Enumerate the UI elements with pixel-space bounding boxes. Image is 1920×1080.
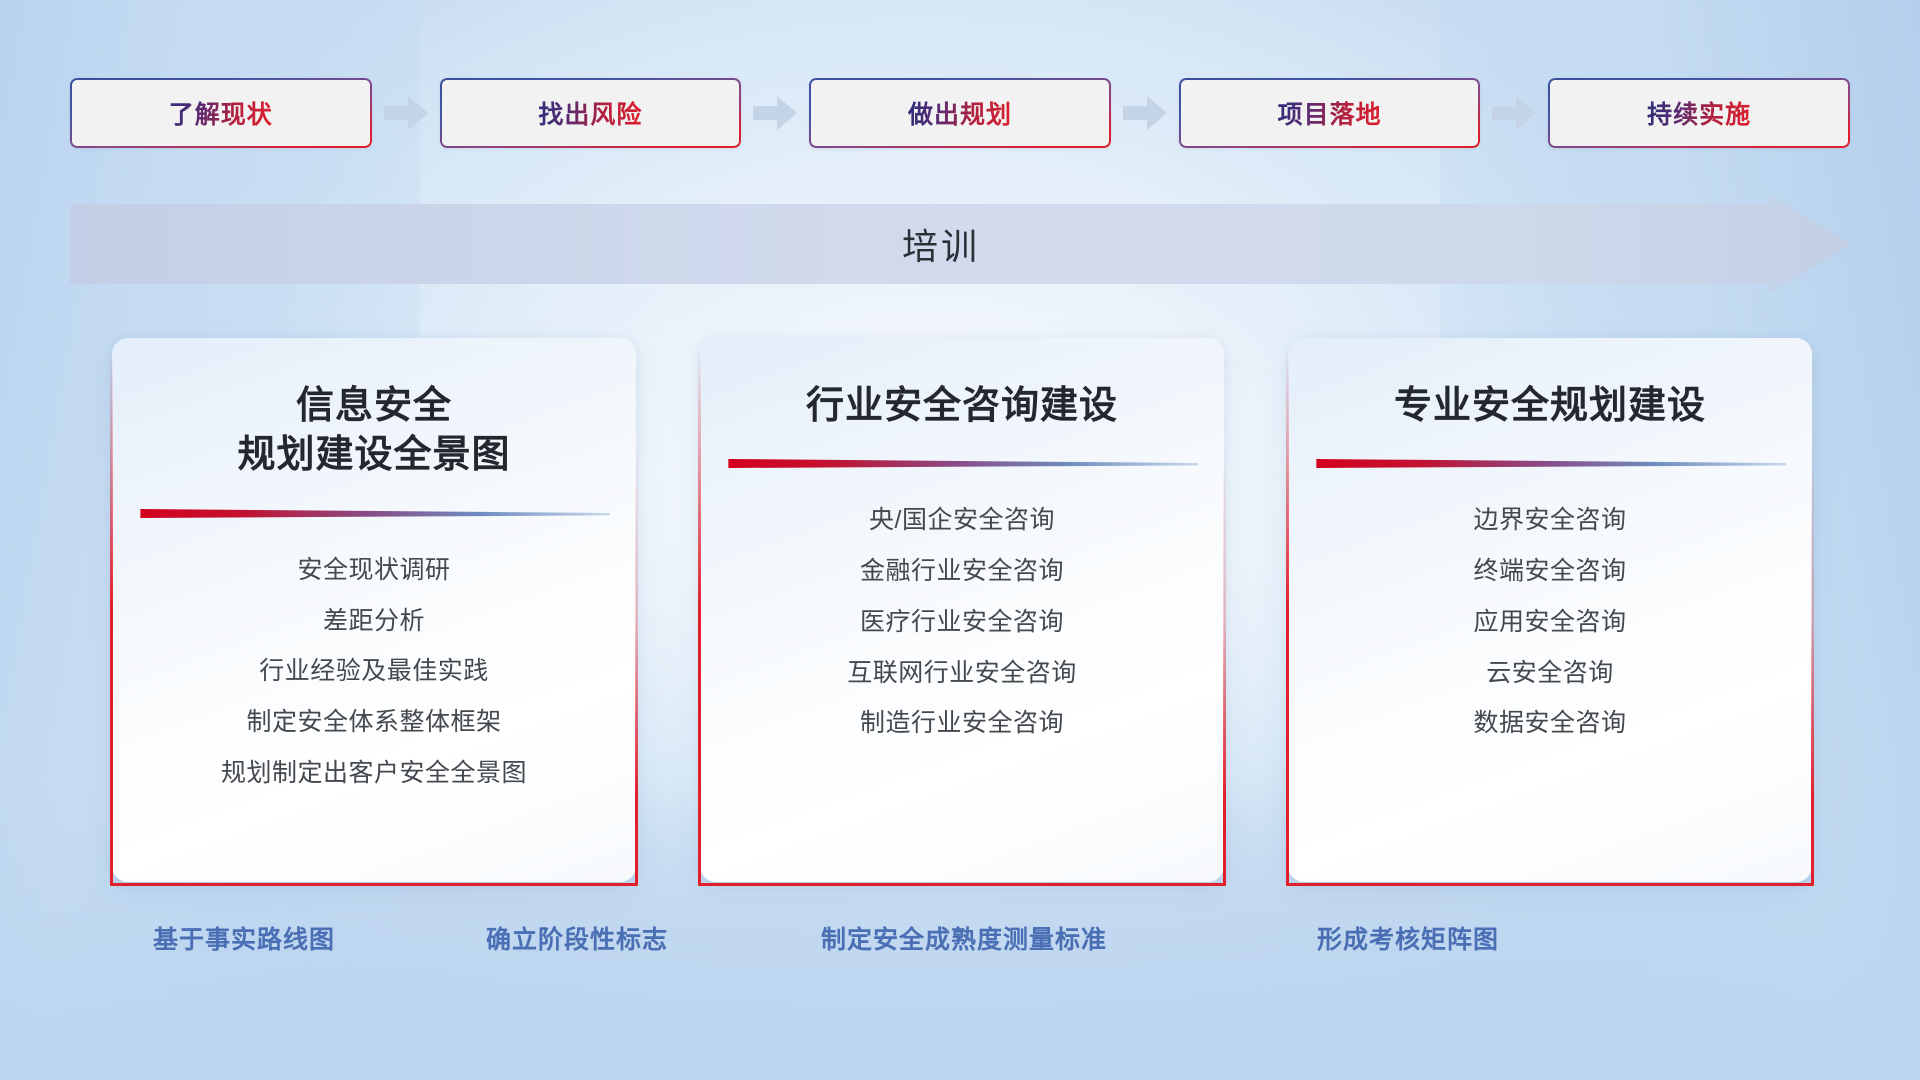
footnote-row: 基于事实路线图确立阶段性标志制定安全成熟度测量标准形成考核矩阵图	[0, 920, 1920, 970]
capability-card-row: 信息安全 规划建设全景图安全现状调研差距分析行业经验及最佳实践制定安全体系整体框…	[112, 338, 1812, 882]
card-divider	[1314, 457, 1786, 471]
process-step-1[interactable]: 了解现状	[70, 78, 372, 148]
card-list-item[interactable]: 安全现状调研	[297, 551, 450, 590]
process-step-label: 项目落地	[1278, 95, 1382, 131]
capability-card-2[interactable]: 行业安全咨询建设央/国企安全咨询金融行业安全咨询医疗行业安全咨询互联网行业安全咨…	[700, 338, 1224, 882]
banner-label: 培训	[70, 196, 1852, 292]
card-bottom-accent-rail	[698, 883, 1226, 886]
process-step-4[interactable]: 项目落地	[1179, 78, 1481, 148]
card-list-item[interactable]: 制定安全体系整体框架	[246, 703, 501, 742]
card-list-item[interactable]: 金融行业安全咨询	[860, 552, 1064, 591]
card-divider	[138, 507, 610, 521]
footnote-label-2: 确立阶段性标志	[486, 920, 668, 956]
card-list-item[interactable]: 制造行业安全咨询	[860, 704, 1064, 743]
card-title: 专业安全规划建设	[1394, 382, 1706, 431]
card-list-item[interactable]: 云安全咨询	[1486, 654, 1614, 693]
process-step-row: 了解现状找出风险做出规划项目落地持续实施	[70, 78, 1850, 148]
card-list-item[interactable]: 央/国企安全咨询	[869, 501, 1055, 540]
training-banner: 培训	[70, 196, 1852, 292]
step-arrow-icon	[372, 90, 440, 136]
process-step-3[interactable]: 做出规划	[809, 78, 1111, 148]
card-bottom-accent-rail	[110, 883, 638, 886]
card-list-item[interactable]: 行业经验及最佳实践	[259, 652, 489, 691]
footnote-label-1: 基于事实路线图	[153, 920, 335, 956]
card-list-item[interactable]: 数据安全咨询	[1473, 704, 1626, 743]
process-step-2[interactable]: 找出风险	[440, 78, 742, 148]
card-list-item[interactable]: 互联网行业安全咨询	[847, 654, 1077, 693]
process-step-label: 找出风险	[538, 95, 642, 131]
card-title: 行业安全咨询建设	[806, 382, 1118, 431]
card-list-item[interactable]: 差距分析	[323, 602, 425, 641]
card-right-accent-rail	[1811, 448, 1814, 886]
card-list-item[interactable]: 终端安全咨询	[1473, 552, 1626, 591]
card-item-list: 安全现状调研差距分析行业经验及最佳实践制定安全体系整体框架规划制定出客户安全全景…	[138, 551, 610, 793]
process-step-label: 做出规划	[908, 95, 1012, 131]
card-right-accent-rail	[635, 448, 638, 886]
process-step-label: 了解现状	[169, 95, 273, 131]
step-arrow-icon	[1480, 90, 1548, 136]
step-arrow-icon	[1111, 90, 1179, 136]
card-list-item[interactable]: 边界安全咨询	[1473, 501, 1626, 540]
capability-card-1[interactable]: 信息安全 规划建设全景图安全现状调研差距分析行业经验及最佳实践制定安全体系整体框…	[112, 338, 636, 882]
card-list-item[interactable]: 医疗行业安全咨询	[860, 603, 1064, 642]
card-title: 信息安全 规划建设全景图	[237, 382, 510, 481]
card-item-list: 央/国企安全咨询金融行业安全咨询医疗行业安全咨询互联网行业安全咨询制造行业安全咨…	[726, 501, 1198, 743]
card-list-item[interactable]: 规划制定出客户安全全景图	[221, 754, 527, 793]
footnote-label-3: 制定安全成熟度测量标准	[821, 920, 1107, 956]
process-step-5[interactable]: 持续实施	[1548, 78, 1850, 148]
process-step-label: 持续实施	[1647, 95, 1751, 131]
capability-card-3[interactable]: 专业安全规划建设边界安全咨询终端安全咨询应用安全咨询云安全咨询数据安全咨询	[1288, 338, 1812, 882]
card-divider	[726, 457, 1198, 471]
footnote-label-4: 形成考核矩阵图	[1317, 920, 1499, 956]
card-item-list: 边界安全咨询终端安全咨询应用安全咨询云安全咨询数据安全咨询	[1314, 501, 1786, 743]
card-list-item[interactable]: 应用安全咨询	[1473, 603, 1626, 642]
card-bottom-accent-rail	[1286, 883, 1814, 886]
card-right-accent-rail	[1223, 448, 1226, 886]
step-arrow-icon	[741, 90, 809, 136]
